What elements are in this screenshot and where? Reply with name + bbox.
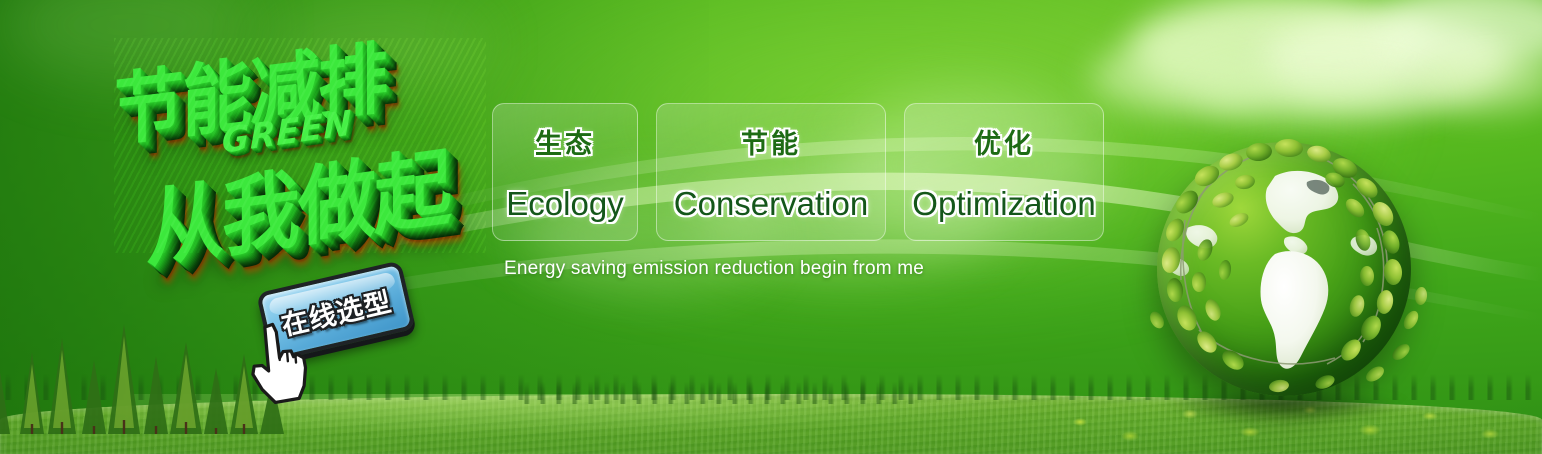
feature-card-en-label: Conservation xyxy=(674,185,868,223)
feature-card-optimization[interactable]: 优化 Optimization xyxy=(904,103,1104,241)
feature-card-cn-label: 节能 xyxy=(741,122,801,161)
feature-card-conservation[interactable]: 节能 Conservation xyxy=(656,103,886,241)
tagline: Energy saving emission reduction begin f… xyxy=(504,258,924,280)
globe-sphere xyxy=(1157,142,1411,396)
treeline-icon xyxy=(520,382,920,404)
eco-promo-banner: 节能减排 GREEN 从我做起 在线选型 生态 Ecology 节能 Conse… xyxy=(0,0,1542,454)
feature-card-list: 生态 Ecology 节能 Conservation 优化 Optimizati… xyxy=(492,103,1104,241)
feature-card-ecology[interactable]: 生态 Ecology xyxy=(492,103,638,241)
feature-card-cn-label: 生态 xyxy=(535,122,595,161)
feature-card-cn-label: 优化 xyxy=(974,122,1034,161)
headline-3d-text: 节能减排 GREEN 从我做起 xyxy=(100,34,500,269)
feature-card-en-label: Ecology xyxy=(506,185,623,223)
feature-card-en-label: Optimization xyxy=(912,185,1095,223)
globe-continents-icon xyxy=(1157,142,1411,396)
online-selection-label: 在线选型 xyxy=(277,279,395,342)
green-earth-globe xyxy=(1139,124,1429,414)
